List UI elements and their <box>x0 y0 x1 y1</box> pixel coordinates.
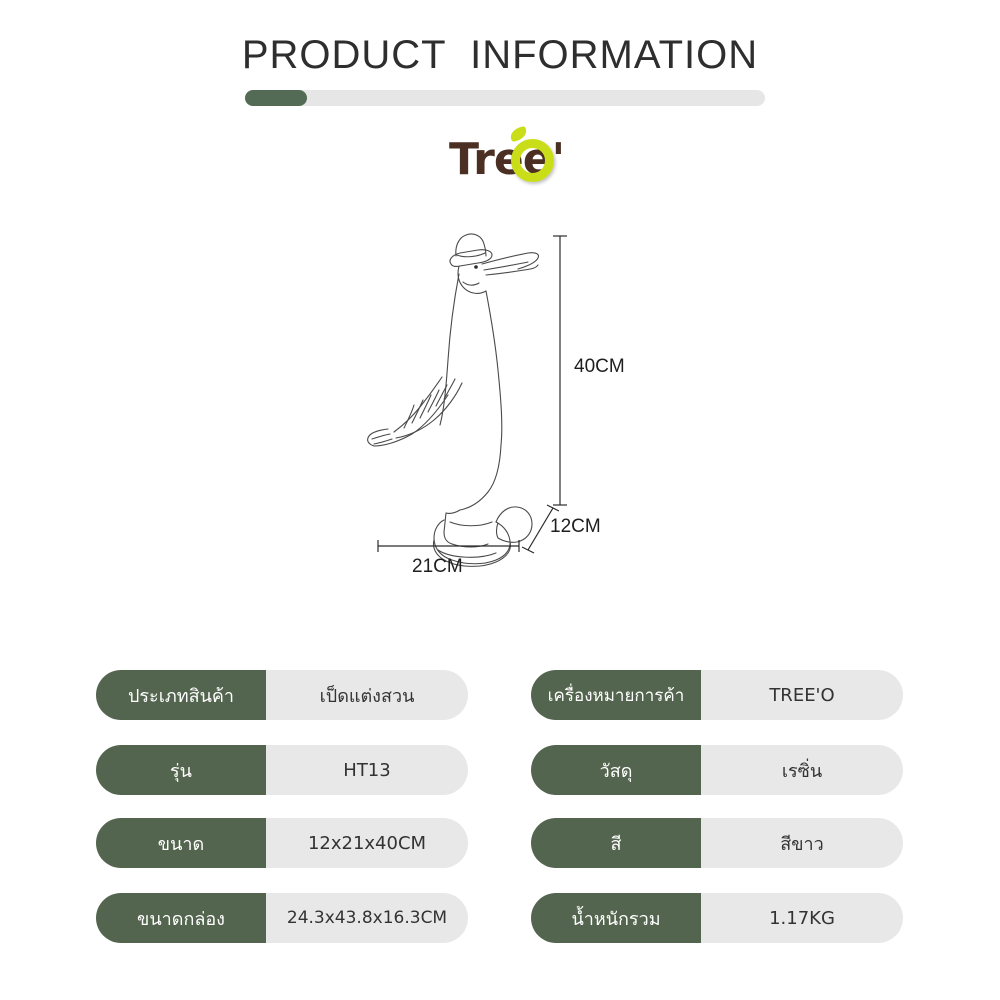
table-row: น้ำหนักรวม 1.17KG <box>531 893 903 943</box>
table-row: สี สีขาว <box>531 818 903 868</box>
progress-bar-fill <box>245 90 307 106</box>
table-row: วัสดุ เรซิ่น <box>531 745 903 795</box>
spec-value-color: สีขาว <box>701 818 903 868</box>
o-ring-icon <box>511 139 554 182</box>
spec-value-model: HT13 <box>266 745 468 795</box>
spec-value-box-size: 24.3x43.8x16.3CM <box>266 893 468 943</box>
dimension-width-label: 21CM <box>412 556 463 577</box>
spec-label-trademark: เครื่องหมายการค้า <box>531 670 701 720</box>
table-row: ขนาดกล่อง 24.3x43.8x16.3CM <box>96 893 468 943</box>
spec-label-product-type: ประเภทสินค้า <box>96 670 266 720</box>
spec-value-trademark: TREE'O <box>701 670 903 720</box>
spec-label-material: วัสดุ <box>531 745 701 795</box>
table-row: รุ่น HT13 <box>96 745 468 795</box>
table-row: ขนาด 12x21x40CM <box>96 818 468 868</box>
dimension-depth-label: 12CM <box>550 516 601 537</box>
spec-label-box-size: ขนาดกล่อง <box>96 893 266 943</box>
spec-value-total-weight: 1.17KG <box>701 893 903 943</box>
spec-label-color: สี <box>531 818 701 868</box>
spec-value-size: 12x21x40CM <box>266 818 468 868</box>
table-row: ประเภทสินค้า เป็ดแต่งสวน <box>96 670 468 720</box>
progress-bar-track <box>245 90 765 106</box>
spec-value-material: เรซิ่น <box>701 745 903 795</box>
brand-logo: Tree' <box>440 126 570 192</box>
spec-label-size: ขนาด <box>96 818 266 868</box>
page-title: PRODUCT INFORMATION <box>0 33 1000 78</box>
table-row: เครื่องหมายการค้า TREE'O <box>531 670 903 720</box>
spec-label-model: รุ่น <box>96 745 266 795</box>
product-illustration: 40CM 12CM 21CM <box>360 220 660 580</box>
spec-value-product-type: เป็ดแต่งสวน <box>266 670 468 720</box>
dimension-height-label: 40CM <box>574 356 625 377</box>
spec-label-total-weight: น้ำหนักรวม <box>531 893 701 943</box>
